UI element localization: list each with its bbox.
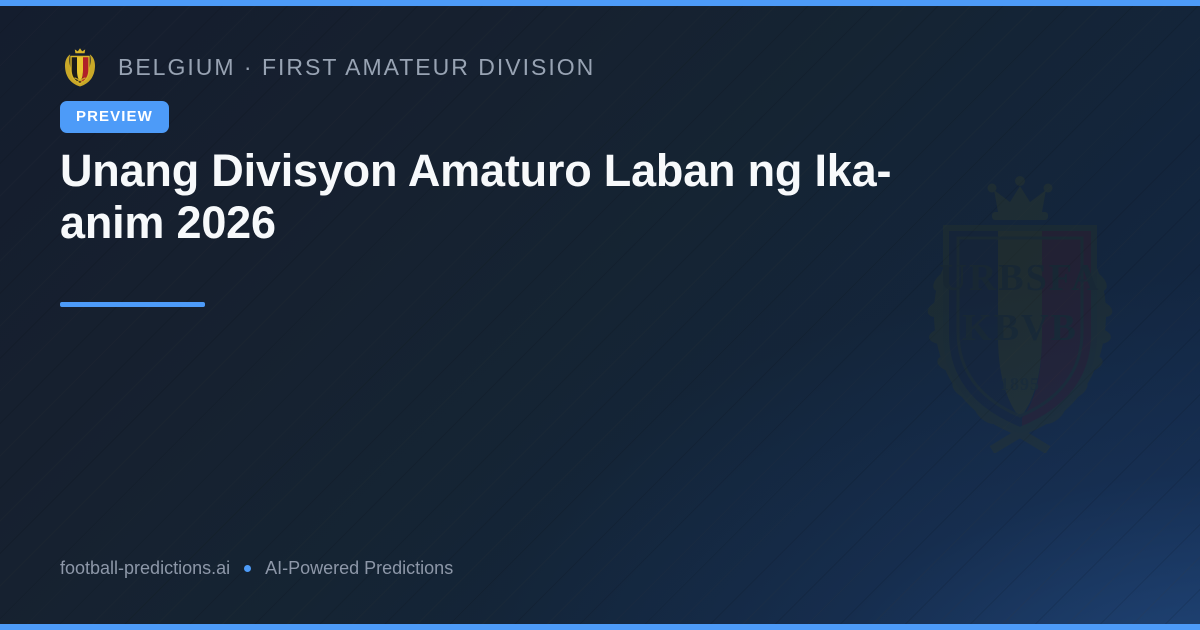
footer: football-predictions.ai AI-Powered Predi… [60,558,453,579]
league-header: BELGIUM · FIRST AMATEUR DIVISION [60,46,595,88]
crest-top-text: URBSFA [939,257,1100,299]
page-title: Unang Divisyon Amaturo Laban ng Ika-anim… [60,145,965,249]
top-accent-bar [0,0,1200,6]
card-content: BELGIUM · FIRST AMATEUR DIVISION PREVIEW… [0,0,1200,630]
footer-tagline-label: AI-Powered Predictions [265,558,453,579]
crest-middle-text: KBVB [962,307,1078,349]
belgium-federation-crest-watermark: URBSFA KBVB 1895 [880,168,1160,453]
status-badge: PREVIEW [60,101,169,133]
crest-year-text: 1895 [1000,374,1040,394]
og-share-card: BELGIUM · FIRST AMATEUR DIVISION PREVIEW… [0,0,1200,630]
footer-site-label: football-predictions.ai [60,558,230,579]
footer-dot-icon [244,565,251,572]
belgium-federation-crest-icon [60,46,100,88]
title-divider [60,302,205,307]
league-header-label: BELGIUM · FIRST AMATEUR DIVISION [118,54,595,81]
bottom-accent-bar [0,624,1200,630]
